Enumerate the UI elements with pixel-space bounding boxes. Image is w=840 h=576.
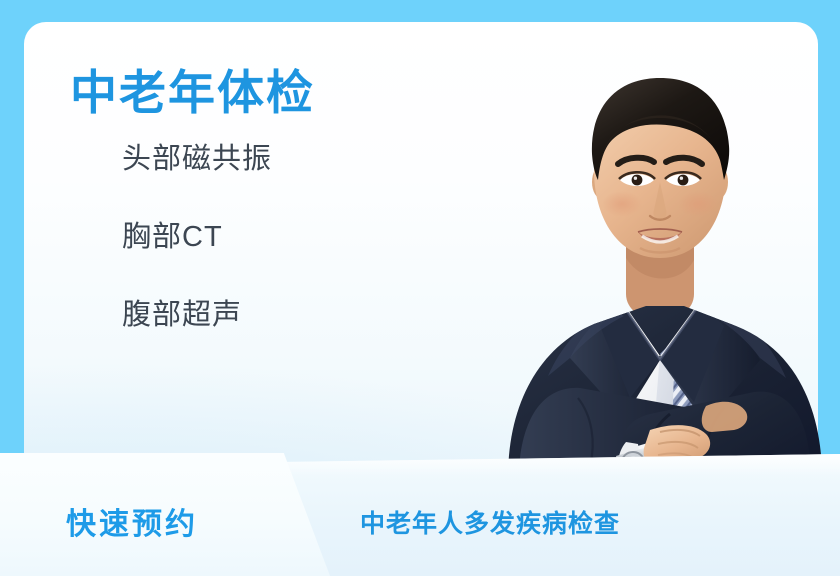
feature-list: 头部磁共振 胸部CT 腹部超声 bbox=[70, 145, 315, 330]
page-title: 中老年体检 bbox=[70, 68, 315, 119]
list-item: 头部磁共振 bbox=[122, 145, 315, 174]
copy-block: 中老年体检 头部磁共振 胸部CT 腹部超声 bbox=[70, 68, 315, 330]
promo-banner: 中老年体检 头部磁共振 胸部CT 腹部超声 快速预约 中老年人多发疾病检查 bbox=[0, 0, 840, 576]
list-item: 胸部CT bbox=[122, 223, 315, 252]
list-item: 腹部超声 bbox=[122, 301, 315, 330]
quick-booking-label[interactable]: 快速预约 bbox=[66, 499, 198, 543]
band-caption: 中老年人多发疾病检查 bbox=[360, 504, 620, 540]
